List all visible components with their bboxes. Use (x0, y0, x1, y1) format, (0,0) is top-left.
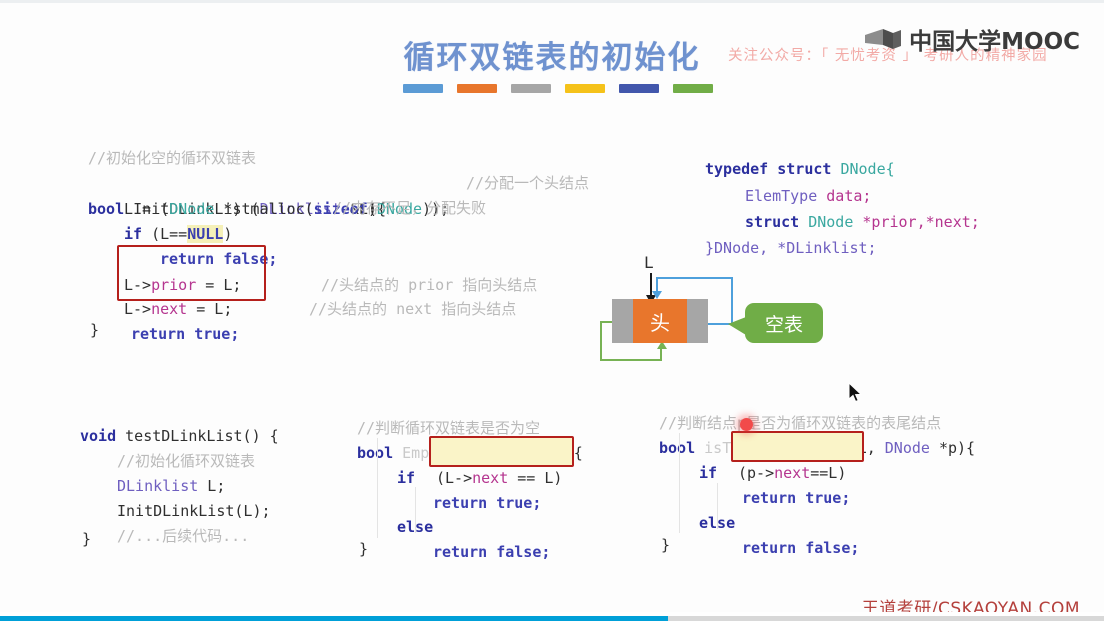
accent-bar-4 (565, 84, 605, 93)
diagram-pointer-label: L (644, 253, 654, 272)
indent-guide-istail (679, 433, 680, 533)
circular-doubly-linked-list-diagram: L 头 空表 (600, 255, 830, 370)
code-comment-next: //头结点的 next 指向头结点 (309, 271, 516, 348)
head-node-data-cell: 头 (633, 299, 687, 343)
code-comment-malloc-fail: //内存不足，分配失败 (333, 196, 486, 222)
indent-guide-empty-2 (415, 487, 416, 533)
empty-list-callout: 空表 (745, 303, 823, 343)
mooc-logo-text: 中国大学MOOC (909, 22, 1080, 56)
accent-bar-2 (457, 84, 497, 93)
prior-loop-bottom (600, 359, 662, 361)
code-line-return-true-init: return true; (131, 296, 239, 373)
click-indicator-dot (740, 418, 753, 431)
head-node-next-cell (687, 299, 708, 343)
title-accent-bars (403, 84, 713, 93)
head-node: 头 (612, 299, 708, 343)
code-brace-istail: } (661, 533, 670, 559)
code-line-return-false-istail: return false; (742, 510, 859, 587)
init-kw-bool: bool (88, 200, 124, 218)
accent-bar-1 (403, 84, 443, 93)
code-comment-malloc: //分配一个头结点 (466, 171, 589, 197)
indent-guide-istail-2 (717, 483, 718, 529)
prior-loop-up (660, 349, 662, 361)
video-progress-fill (0, 616, 668, 621)
code-cond-empty: (L->next == L) (436, 440, 562, 517)
accent-bar-3 (511, 84, 551, 93)
watermark-bottom: 王道考研/CSKAOYAN.COM (862, 594, 1080, 612)
code-brace-empty: } (359, 537, 368, 563)
head-node-prior-cell (612, 299, 633, 343)
mouse-cursor-icon (848, 382, 864, 404)
next-loop-top (656, 277, 733, 279)
code-brace-test: } (82, 527, 91, 553)
slide-top-divider (0, 0, 1104, 3)
mooc-logo: 中国大学MOOC (863, 22, 1080, 56)
code-comment-test-2: //...后续代码... (117, 498, 249, 575)
code-cond-istail: (p->next==L) (738, 435, 846, 512)
video-progress-bar[interactable] (0, 616, 1104, 621)
next-loop-arrowhead (652, 291, 662, 299)
init-comment-top: //初始化空的循环双链表 (88, 149, 256, 167)
prior-loop-left (600, 321, 602, 361)
code-brace-init: } (90, 318, 99, 344)
mooc-logo-icon (863, 27, 903, 51)
accent-bar-5 (619, 84, 659, 93)
code-line-return-false-empty: return false; (433, 514, 550, 591)
accent-bar-6 (673, 84, 713, 93)
indent-guide-empty (377, 438, 378, 538)
slide-canvas: 循环双链表的初始化 关注公众号：「 无忧考资 」 考研人的精神家园 中国大学MO… (0, 0, 1104, 612)
